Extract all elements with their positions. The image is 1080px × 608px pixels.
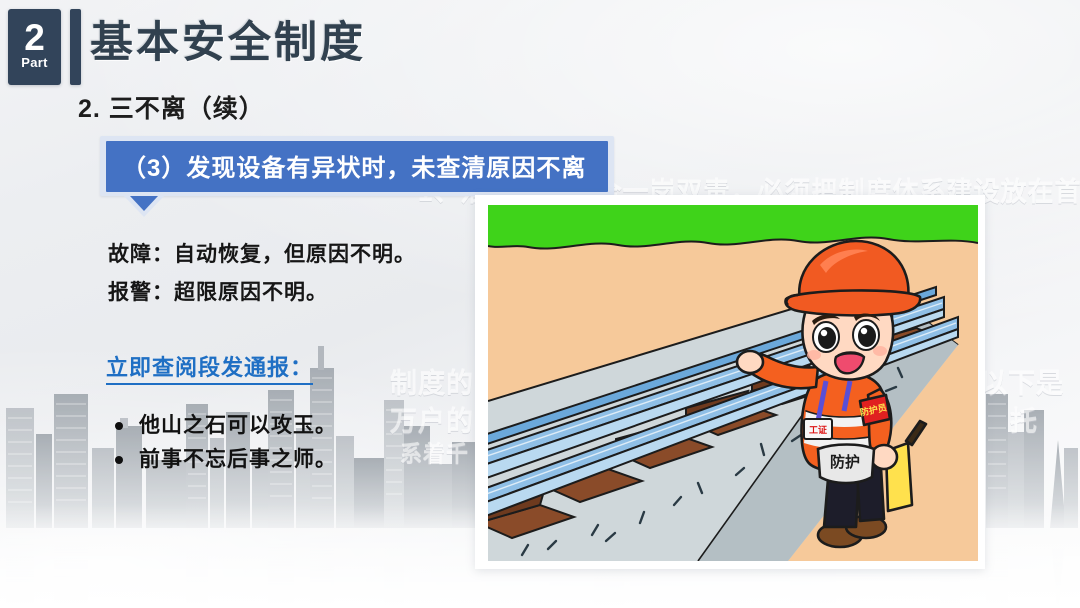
part-badge-label: Part (21, 55, 48, 70)
railway-worker-illustration: 防护员 工证 防护 (488, 205, 978, 561)
slide-canvas: 1、落实现场安全一岗双责，必须把制度体系建设放在首位。2、 制度的门槛， 万户的… (0, 0, 1080, 608)
watermark-text-tail-2: 托 (1010, 400, 1038, 439)
section-title: 2. 三不离（续） (78, 89, 265, 125)
part-badge-accent-bar (70, 9, 81, 85)
bullet-dot-icon (115, 456, 123, 464)
bullet-label: 前事不忘后事之师。 (139, 447, 337, 473)
body-line-alarm: 报警：超限原因不明。 (108, 276, 328, 306)
page-title: 基本安全制度 (90, 22, 366, 65)
banner-frame: （3）发现设备有异状时，未查清原因不离 (100, 136, 614, 196)
list-item: 他山之石可以攻玉。 (110, 413, 337, 439)
list-item: 前事不忘后事之师。 (110, 447, 337, 473)
bag-text: 防护 (830, 453, 860, 471)
banner-label: （3）发现设备有异状时，未查清原因不离 (106, 141, 608, 192)
id-badge-text: 工证 (809, 425, 827, 435)
illustration: 防护员 工证 防护 (488, 205, 978, 561)
part-badge: 2 Part (8, 9, 61, 85)
bullet-dot-icon (115, 422, 123, 430)
part-badge-number: 2 (24, 22, 45, 54)
bullet-label: 他山之石可以攻玉。 (139, 413, 337, 439)
illustration-frame: 防护员 工证 防护 (475, 195, 985, 569)
banner-pointer-icon (130, 196, 158, 211)
bullet-list: 他山之石可以攻玉。 前事不忘后事之师。 (110, 413, 337, 482)
action-heading: 立即查阅段发通报： (106, 350, 313, 385)
body-line-fault: 故障：自动恢复，但原因不明。 (108, 238, 416, 268)
watermark-text-tail-1: 以下是 (980, 362, 1064, 401)
watermark-text-right-3: 系着千 (400, 437, 469, 469)
banner: （3）发现设备有异状时，未查清原因不离 (100, 136, 614, 196)
